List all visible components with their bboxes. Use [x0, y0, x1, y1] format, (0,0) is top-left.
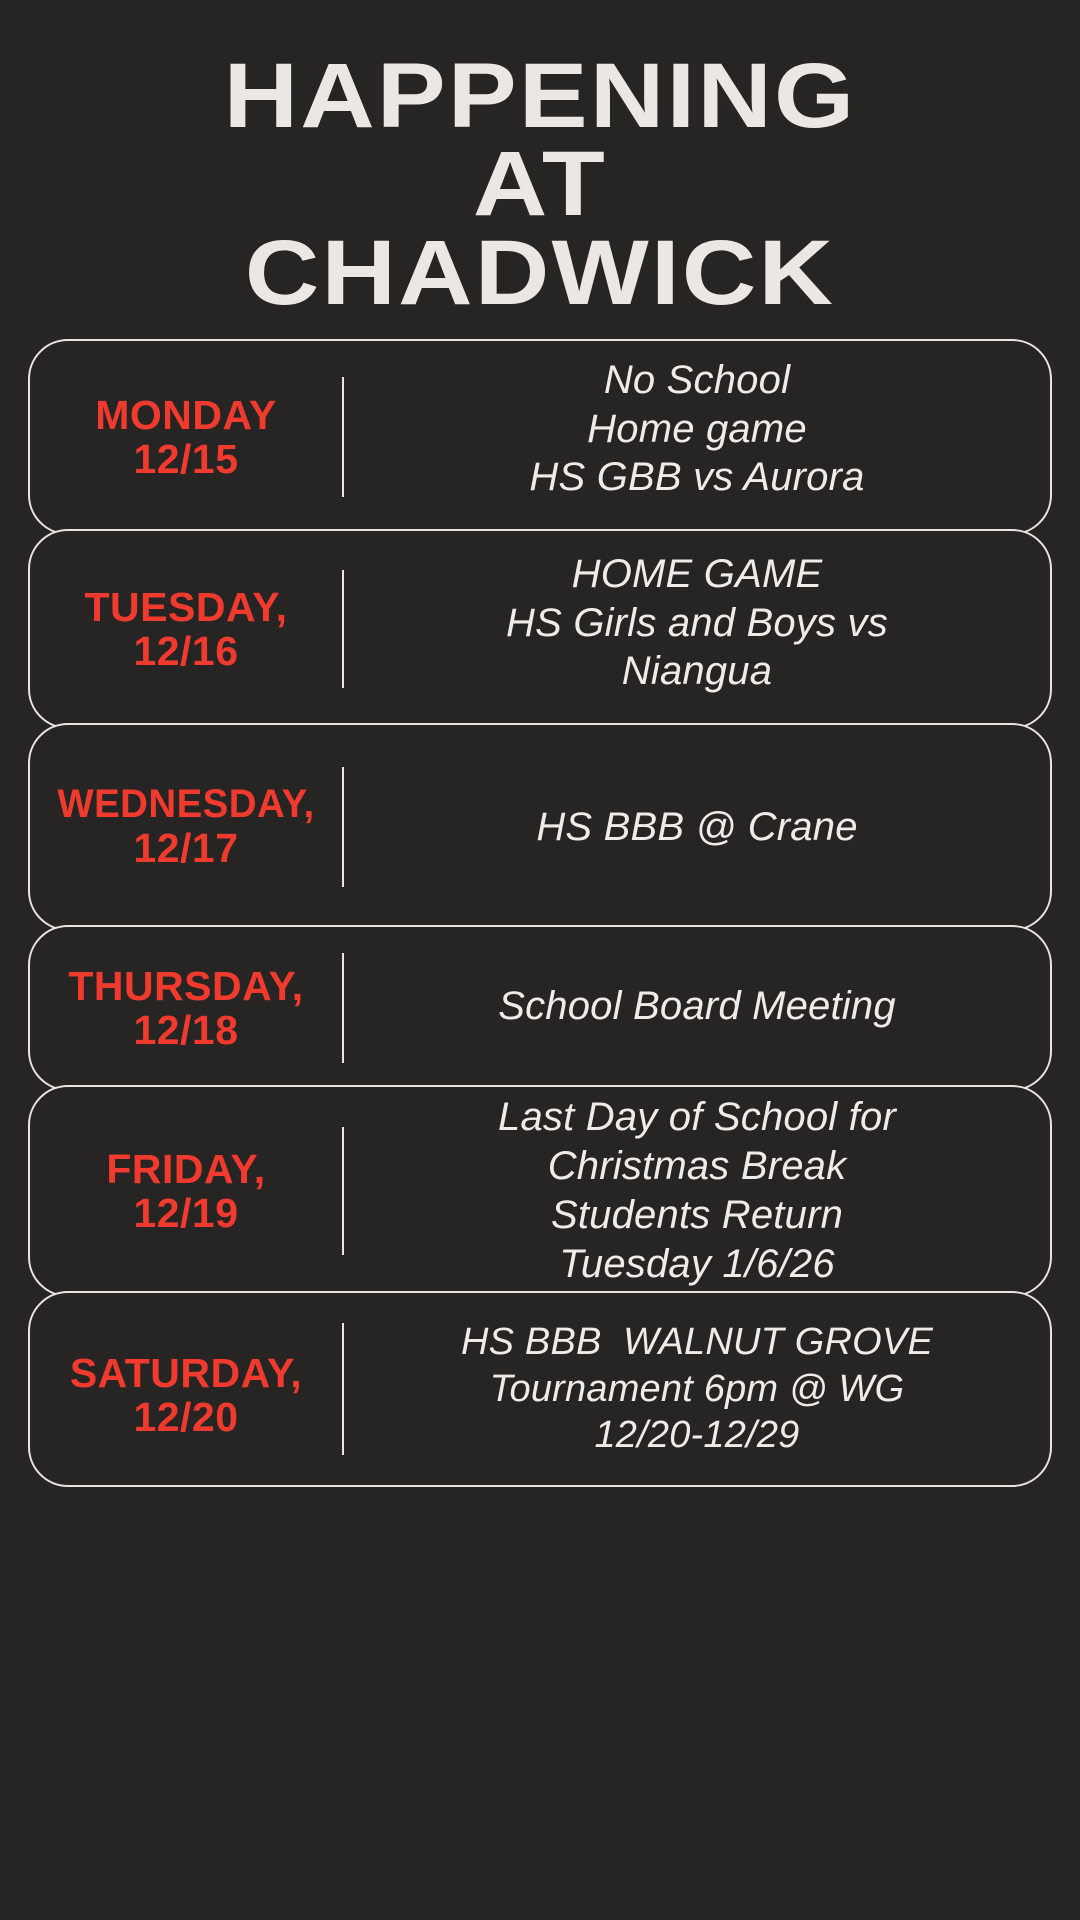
schedule-row-friday: FRIDAY, 12/19 Last Day of School for Chr…: [28, 1085, 1052, 1297]
event-text-wednesday: HS BBB @ Crane: [344, 803, 1050, 852]
event-line: Last Day of School for: [370, 1093, 1024, 1142]
event-text-saturday: HS BBB WALNUT GROVE Tournament 6pm @ WG …: [344, 1319, 1050, 1458]
poster-canvas: HAPPENING AT CHADWICK MONDAY 12/15 No Sc…: [0, 0, 1080, 1920]
event-line: Tournament 6pm @ WG: [370, 1366, 1024, 1412]
event-line: Tuesday 1/6/26: [370, 1240, 1024, 1289]
event-text-monday: No School Home game HS GBB vs Aurora: [344, 356, 1050, 502]
day-label-saturday: SATURDAY, 12/20: [30, 1351, 342, 1440]
day-label-tuesday: TUESDAY, 12/16: [30, 585, 342, 674]
event-line: HS BBB WALNUT GROVE: [370, 1319, 1024, 1365]
event-line: Christmas Break: [370, 1142, 1024, 1191]
day-name: MONDAY: [36, 393, 336, 437]
day-label-monday: MONDAY 12/15: [30, 393, 342, 482]
day-name: TUESDAY,: [36, 585, 336, 629]
day-date: 12/18: [36, 1008, 336, 1052]
day-date: 12/20: [36, 1395, 336, 1439]
schedule-list: MONDAY 12/15 No School Home game HS GBB …: [0, 339, 1080, 1487]
day-label-wednesday: WEDNESDAY, 12/17: [30, 783, 342, 870]
schedule-row-wednesday: WEDNESDAY, 12/17 HS BBB @ Crane: [28, 723, 1052, 931]
day-name: SATURDAY,: [36, 1351, 336, 1395]
event-line: No School: [370, 356, 1024, 405]
day-label-thursday: THURSDAY, 12/18: [30, 964, 342, 1053]
title-line-1: HAPPENING: [0, 52, 1080, 140]
day-date: 12/17: [36, 826, 336, 870]
schedule-row-tuesday: TUESDAY, 12/16 HOME GAME HS Girls and Bo…: [28, 529, 1052, 729]
title-line-2: AT: [0, 140, 1080, 228]
event-text-friday: Last Day of School for Christmas Break S…: [344, 1093, 1050, 1288]
event-line: HS GBB vs Aurora: [370, 453, 1024, 502]
event-line: HS BBB @ Crane: [370, 803, 1024, 852]
day-name: WEDNESDAY,: [42, 783, 330, 826]
schedule-row-monday: MONDAY 12/15 No School Home game HS GBB …: [28, 339, 1052, 535]
event-line: Home game: [370, 405, 1024, 454]
day-date: 12/19: [36, 1191, 336, 1235]
event-line: 12/20-12/29: [370, 1412, 1024, 1458]
day-date: 12/15: [36, 437, 336, 481]
schedule-row-thursday: THURSDAY, 12/18 School Board Meeting: [28, 925, 1052, 1091]
day-name: FRIDAY,: [36, 1147, 336, 1191]
event-line: HOME GAME: [370, 550, 1024, 599]
event-line: HS Girls and Boys vs: [370, 599, 1024, 648]
day-label-friday: FRIDAY, 12/19: [30, 1147, 342, 1236]
event-text-thursday: School Board Meeting: [344, 982, 1050, 1031]
schedule-row-saturday: SATURDAY, 12/20 HS BBB WALNUT GROVE Tour…: [28, 1291, 1052, 1487]
event-text-tuesday: HOME GAME HS Girls and Boys vs Niangua: [344, 550, 1050, 696]
day-date: 12/16: [36, 629, 336, 673]
title-line-3: CHADWICK: [0, 229, 1080, 317]
event-line: Niangua: [370, 647, 1024, 696]
event-line: School Board Meeting: [370, 982, 1024, 1031]
poster-title: HAPPENING AT CHADWICK: [0, 0, 1080, 317]
day-name: THURSDAY,: [36, 964, 336, 1008]
event-line: Students Return: [370, 1191, 1024, 1240]
